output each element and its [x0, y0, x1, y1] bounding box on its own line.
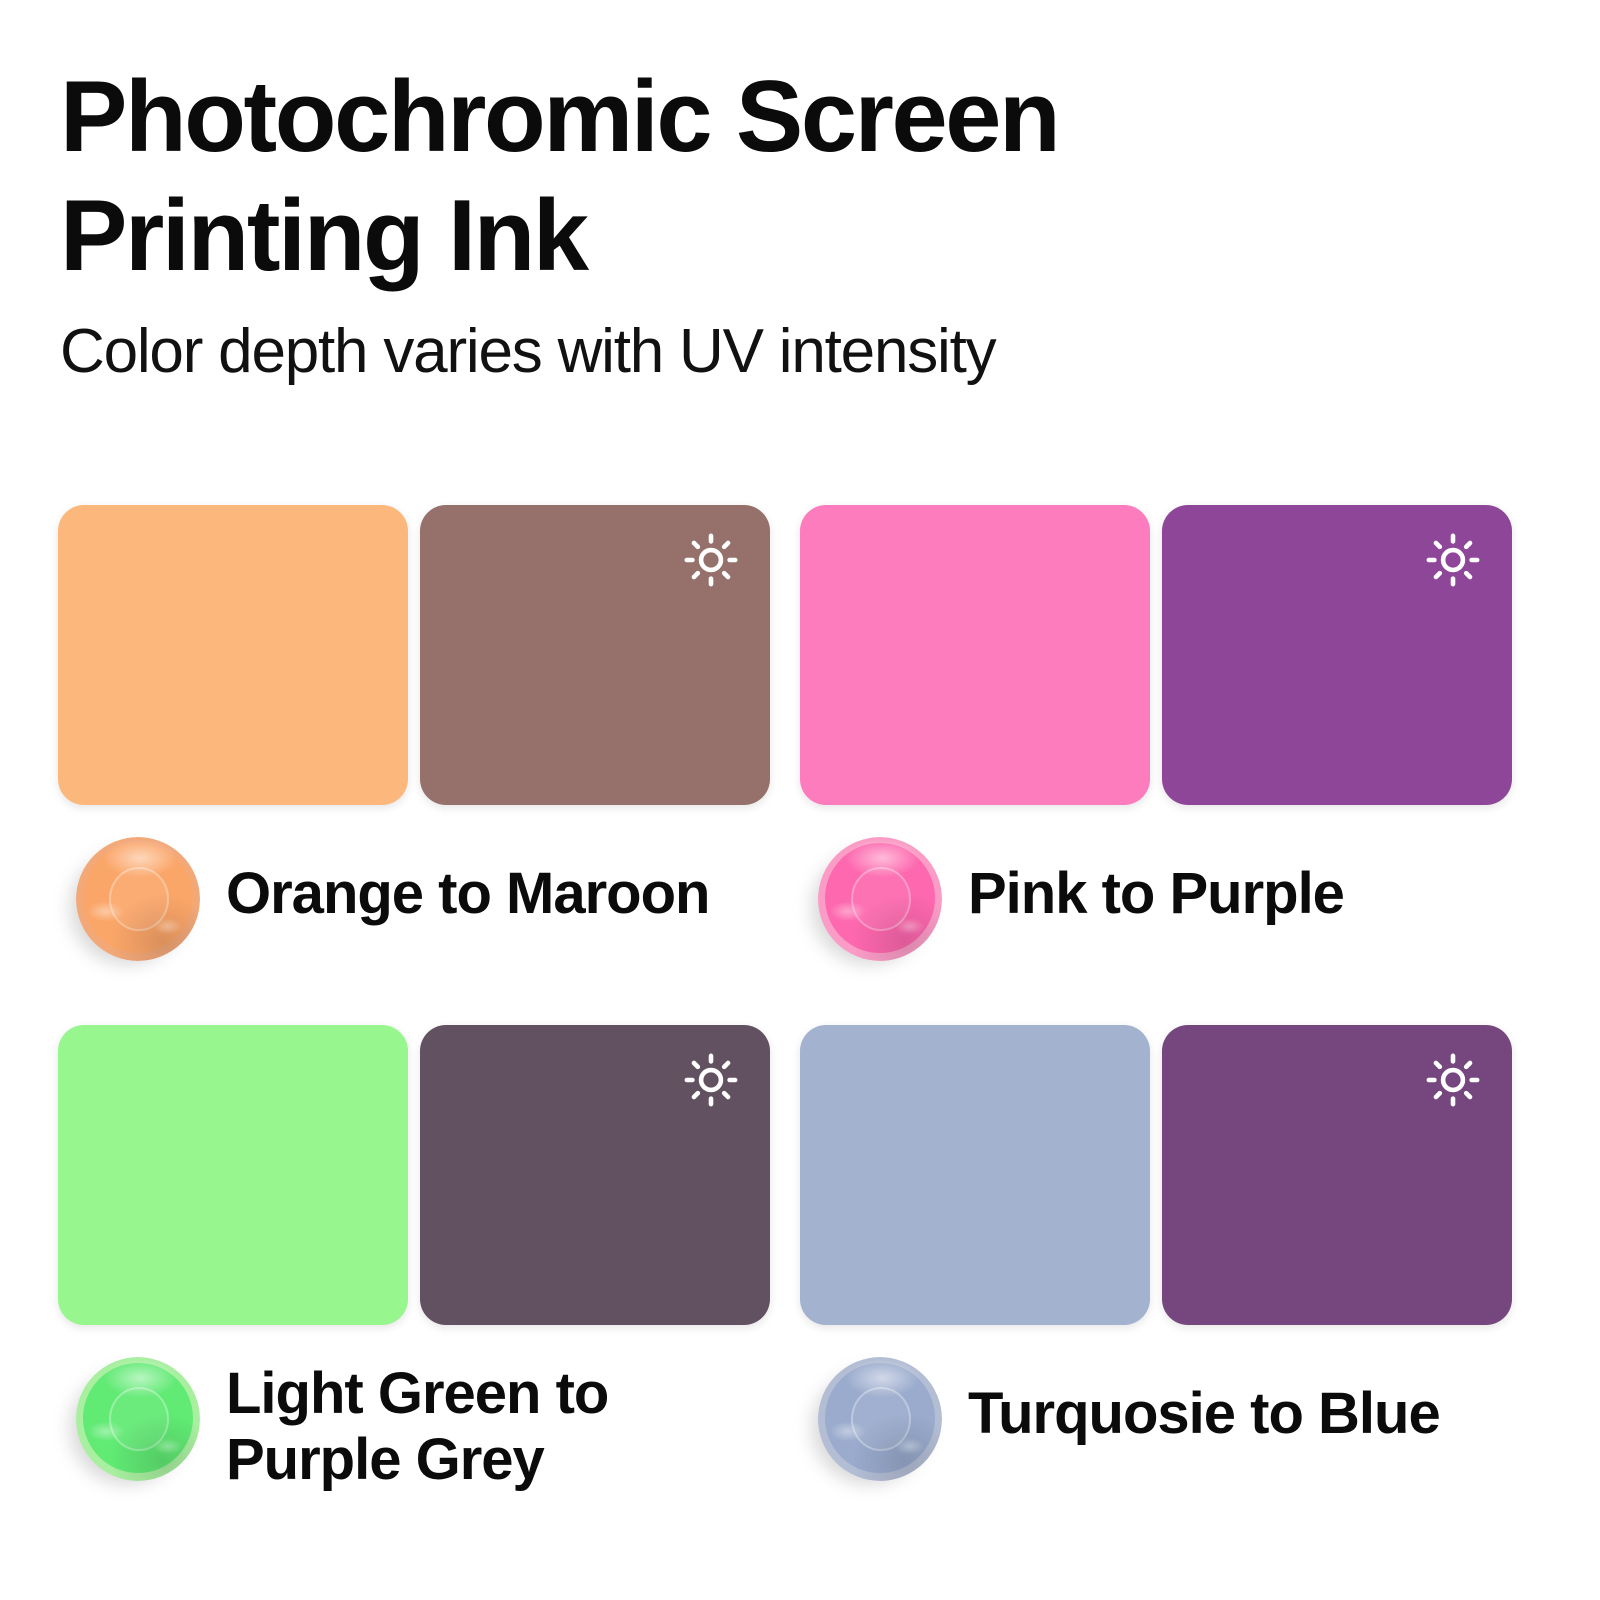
ink-pot-icon — [804, 835, 944, 975]
ink-pot-icon — [62, 1355, 202, 1495]
swatch-pair — [58, 505, 770, 805]
page-title: Photochromic Screen Printing Ink — [60, 58, 1310, 296]
swatch-inactive-turquosie[interactable] — [800, 1025, 1150, 1325]
swatch-inactive-pink[interactable] — [800, 505, 1150, 805]
ink-card-turquosie-to-blue: Turquosie to Blue — [800, 1025, 1542, 1480]
ink-card-light-green-to-purple-grey: Light Green to Purple Grey — [58, 1025, 800, 1480]
ink-card-orange-to-maroon: Orange to Maroon — [58, 505, 800, 960]
pot — [76, 1357, 200, 1481]
ink-pot-icon — [804, 1355, 944, 1495]
label-row: Turquosie to Blue — [800, 1355, 1542, 1495]
ink-swatch-grid: Orange to Maroon — [0, 505, 1600, 1480]
ink-card-pink-to-purple: Pink to Purple — [800, 505, 1542, 960]
sun-icon — [1424, 1051, 1482, 1109]
pot — [818, 837, 942, 961]
swatch-active-maroon[interactable] — [420, 505, 770, 805]
page-subtitle: Color depth varies with UV intensity — [60, 318, 1460, 386]
swatch-inactive-light-green[interactable] — [58, 1025, 408, 1325]
pot-gloss-highlight — [818, 837, 942, 961]
sun-icon — [682, 1051, 740, 1109]
ink-label: Turquosie to Blue — [968, 1381, 1440, 1447]
ink-label: Pink to Purple — [968, 861, 1344, 927]
swatch-active-purple[interactable] — [1162, 505, 1512, 805]
pot — [76, 837, 200, 961]
sun-icon — [682, 531, 740, 589]
swatch-pair — [800, 505, 1512, 805]
ink-pot-icon — [62, 835, 202, 975]
pot-gloss-highlight — [76, 837, 200, 961]
swatch-pair — [800, 1025, 1512, 1325]
photochromic-ink-infographic: { "header": { "title": "Photochromic Scr… — [0, 0, 1600, 1600]
ink-label: Light Green to Purple Grey — [226, 1361, 786, 1493]
label-row: Pink to Purple — [800, 835, 1542, 975]
swatch-pair — [58, 1025, 770, 1325]
pot-gloss-highlight — [818, 1357, 942, 1481]
pot-gloss-highlight — [76, 1357, 200, 1481]
swatch-active-purple-grey[interactable] — [420, 1025, 770, 1325]
label-row: Orange to Maroon — [58, 835, 800, 975]
swatch-inactive-orange[interactable] — [58, 505, 408, 805]
label-row: Light Green to Purple Grey — [58, 1355, 800, 1495]
sun-icon — [1424, 531, 1482, 589]
swatch-active-blue-purple[interactable] — [1162, 1025, 1512, 1325]
ink-label: Orange to Maroon — [226, 861, 709, 927]
pot — [818, 1357, 942, 1481]
header: Photochromic Screen Printing Ink Color d… — [60, 58, 1460, 387]
